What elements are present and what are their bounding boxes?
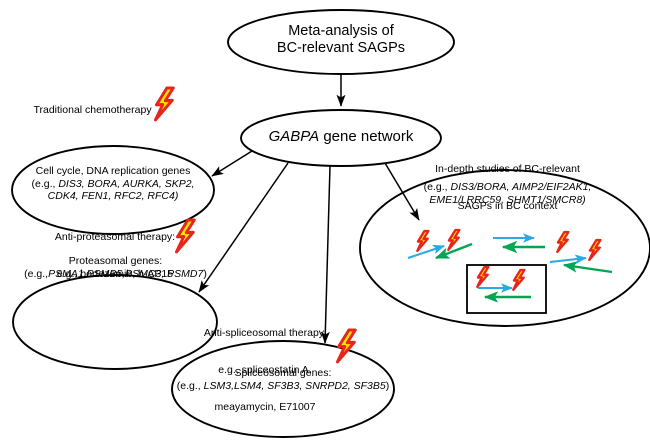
indepth-prefix: (e.g., xyxy=(424,181,451,193)
node-root-label: Meta-analysis of BC-relevant SAGPs xyxy=(231,23,451,58)
indepth-label-line-1: In-depth studies of BC-relevant xyxy=(420,163,595,175)
indepth-line-1: (e.g., DIS3/BORA, AIMP2/EIF2AK1, xyxy=(400,181,615,194)
proteasomal-line-2: (e.g.,PSMA1,PSMB5,PSMC3, PSMD7) xyxy=(13,268,218,281)
traditional-chemo-text: Traditional chemotherapy xyxy=(33,104,151,116)
indepth-genes-a: DIS3/BORA, AIMP2/EIF2AK1, xyxy=(451,181,592,193)
anti-spliceosomal-line-1: Anti-spliceosomal therapy, xyxy=(185,327,345,339)
cellcycle-genes-a: DIS3, BORA, AURKA, SKP2, xyxy=(58,178,194,190)
root-line-2: BC-relevant SAGPs xyxy=(231,40,451,57)
spliceosomal-genes: LSM3,LSM4, SF3B3, SNRPD2, SF3B5 xyxy=(204,380,386,392)
node-spliceosomal-label: Spliceosomal genes: (e.g., LSM3,LSM4, SF… xyxy=(163,367,403,392)
gabpa-italic: GABPA xyxy=(269,128,320,145)
cellcycle-prefix: (e.g., xyxy=(31,178,58,190)
interaction-unit-4-boxed xyxy=(467,265,546,313)
connector-gabpa-to-cellcycle xyxy=(212,151,252,176)
cellcycle-line-3: CDK4, FEN1, RFC2, RFC4) xyxy=(13,190,213,203)
proteasomal-suffix: ) xyxy=(203,268,207,280)
diagram-canvas: Meta-analysis of BC-relevant SAGPs GABPA… xyxy=(0,0,650,448)
proteasomal-prefix: (e.g., xyxy=(24,268,48,280)
proteasomal-line-1: Proteasomal genes: xyxy=(13,255,218,268)
proteasomal-genes: PSMA1,PSMB5,PSMC3, PSMD7 xyxy=(48,268,203,280)
spliceosomal-line-2: (e.g., LSM3,LSM4, SF3B3, SNRPD2, SF3B5) xyxy=(163,380,403,393)
node-proteasomal-label: Proteasomal genes: (e.g.,PSMA1,PSMB5,PSM… xyxy=(13,255,218,280)
cellcycle-line-1: Cell cycle, DNA replication genes xyxy=(13,165,213,178)
gabpa-plain: gene network xyxy=(319,128,413,145)
anti-spliceosomal-line-3: meayamycin, E71007 xyxy=(185,401,345,413)
anti-proteasomal-line-1: Anti-proteasomal therapy: xyxy=(35,231,195,243)
spliceosomal-suffix: ) xyxy=(386,380,390,392)
indepth-line-2: EME1/LRRC59, SHMT1/SMCR8) xyxy=(400,194,615,207)
spliceosomal-prefix: (e.g., xyxy=(177,380,204,392)
root-line-1: Meta-analysis of xyxy=(231,23,451,40)
cellcycle-line-2: (e.g., DIS3, BORA, AURKA, SKP2, xyxy=(13,178,213,191)
spliceosomal-line-1: Spliceosomal genes: xyxy=(163,367,403,380)
node-cellcycle-label: Cell cycle, DNA replication genes (e.g.,… xyxy=(13,165,213,203)
node-indepth-label: (e.g., DIS3/BORA, AIMP2/EIF2AK1, EME1/LR… xyxy=(400,181,615,206)
label-traditional-chemotherapy: Traditional chemotherapy xyxy=(22,92,162,129)
node-gabpa-label: GABPA gene network xyxy=(241,128,441,146)
